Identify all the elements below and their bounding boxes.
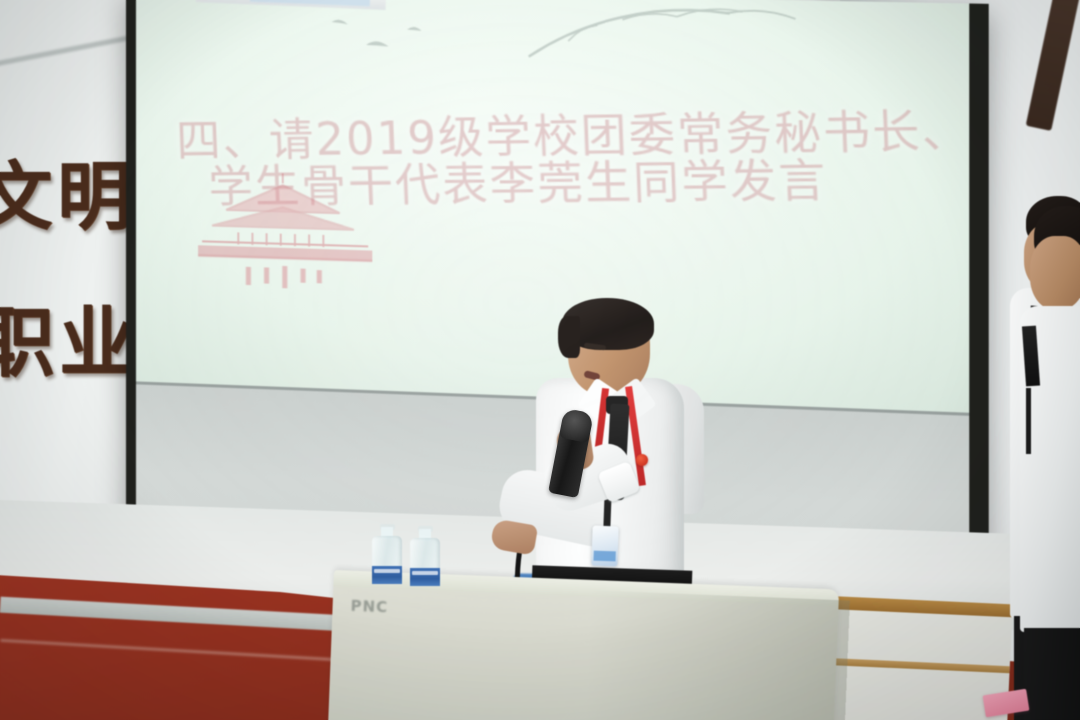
speaker-id-badge	[591, 526, 618, 567]
bottle-label	[410, 568, 440, 586]
tiananmen-gate-icon	[168, 162, 401, 300]
student-trousers	[1024, 628, 1080, 720]
student-head	[1030, 236, 1080, 310]
wall-slogan-line-1: 文明	[0, 160, 136, 234]
id-badge-band	[593, 551, 615, 562]
bottle-label	[372, 566, 402, 584]
student-lanyard	[1026, 388, 1031, 454]
lectern-logo: PNC	[350, 597, 388, 617]
lectern-shadow	[583, 590, 849, 720]
photo-canvas: 文明 职业英才	[0, 0, 1080, 720]
bottle-label-text	[412, 571, 438, 575]
water-bottle-right	[410, 526, 440, 586]
party-emblem-pin-icon	[636, 454, 648, 466]
bottle-body	[410, 538, 440, 586]
speaker-hair-side	[558, 316, 580, 358]
speaker-left-hand	[490, 518, 539, 555]
lectern-podium: PNC	[328, 570, 839, 720]
bottle-body	[372, 536, 402, 584]
bottle-label-text	[374, 569, 400, 573]
water-bottle-left	[372, 524, 402, 584]
student-front-right	[1028, 228, 1080, 720]
birds-and-branch-icon	[314, 0, 899, 96]
